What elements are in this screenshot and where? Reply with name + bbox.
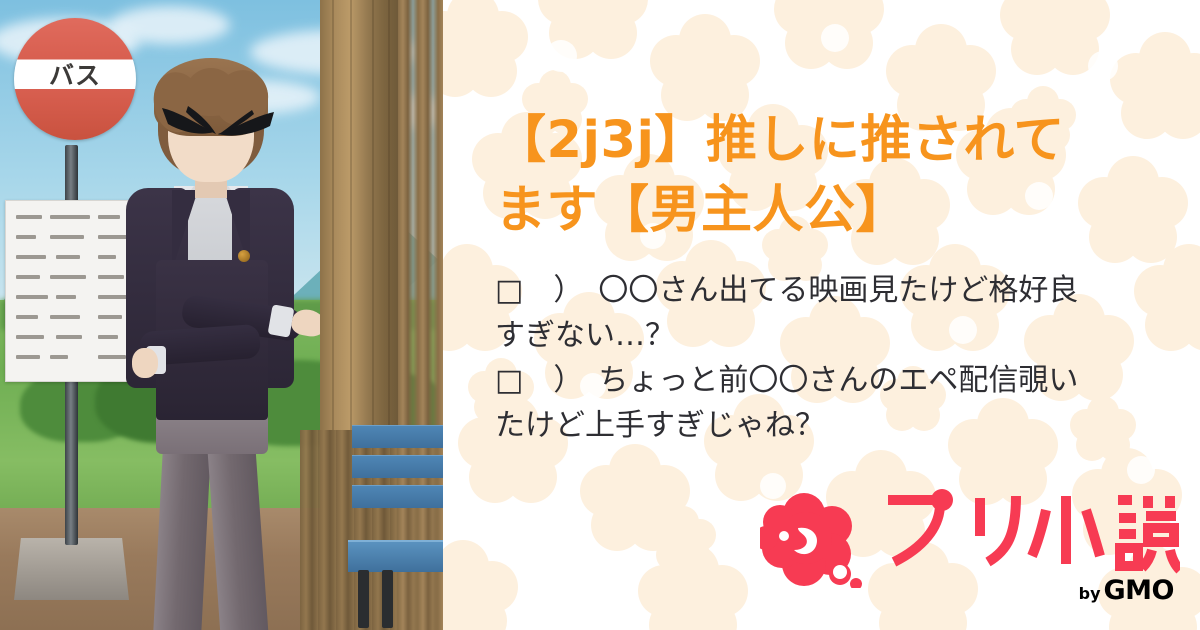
brand-logo[interactable]: by GMO	[748, 478, 1178, 608]
thought-bubble-flower-icon	[760, 492, 872, 588]
logo-gmo-brand: GMO	[1104, 577, 1174, 604]
share-card: バス	[0, 0, 1200, 630]
text-panel: 【2j3j】推しに推されて ます【男主人公】 □ ） 〇〇さん出てる映画見たけど…	[443, 0, 1200, 630]
page-title: 【2j3j】推しに推されて ます【男主人公】	[495, 106, 1185, 245]
cover-illustration: バス	[0, 0, 443, 630]
logo-by-gmo: by GMO	[1079, 578, 1174, 604]
blue-bench	[352, 425, 443, 600]
cloud-shape	[110, 6, 230, 44]
character-lapel-pin	[238, 250, 250, 262]
logo-wordmark	[880, 484, 1180, 576]
logo-by-prefix: by	[1079, 586, 1101, 604]
censor-bar-icon	[160, 104, 276, 144]
story-excerpt: □ ） 〇〇さん出てる映画見たけど格好良 すぎない…？ □ ） ちょっと前〇〇さ…	[495, 268, 1185, 448]
character-lapel-left	[172, 190, 198, 270]
character-hand-left	[132, 348, 158, 378]
